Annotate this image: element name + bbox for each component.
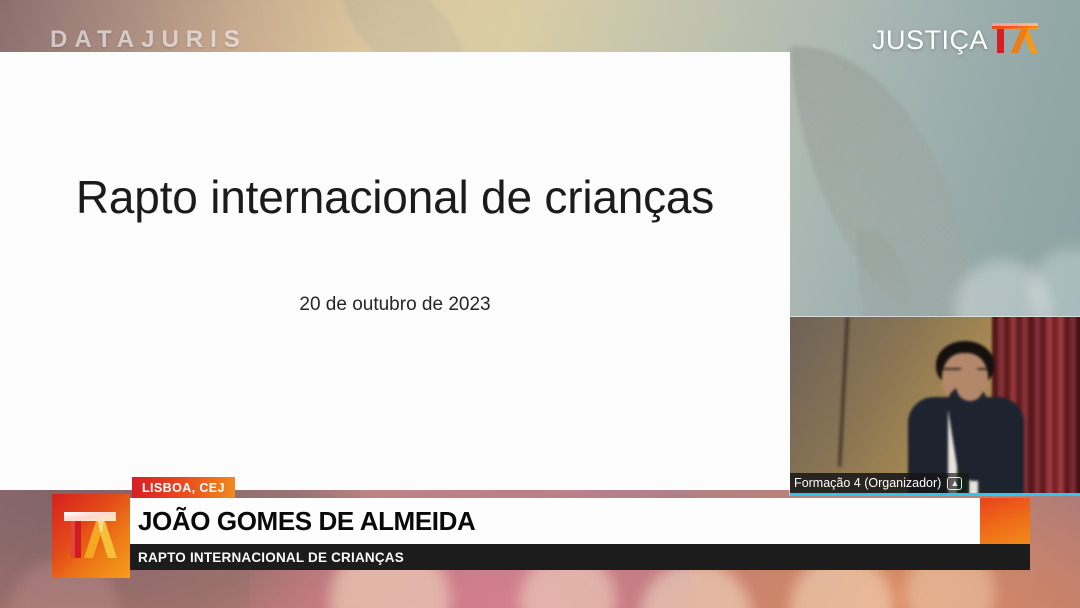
- participant-video-tile[interactable]: EJ Formação 4 (Organizador) ▲: [789, 316, 1080, 496]
- active-speaker-border: [790, 493, 1080, 496]
- participant-name-label: EJ Formação 4 (Organizador) ▲: [790, 473, 969, 493]
- topic-bar: RAPTO INTERNACIONAL DE CRIANÇAS: [130, 544, 1030, 570]
- slide-title: Rapto internacional de crianças: [60, 170, 730, 225]
- presentation-slide: Rapto internacional de crianças 20 de ou…: [0, 52, 790, 490]
- name-bar-accent-cap: [980, 498, 1030, 544]
- speaker-name-text: JOÃO GOMES DE ALMEIDA: [138, 506, 475, 537]
- pin-icon[interactable]: ▲: [947, 477, 962, 490]
- ta-logo-icon: [988, 20, 1044, 61]
- location-badge-text: LISBOA, CEJ: [142, 481, 225, 495]
- speaker-name-bar: JOÃO GOMES DE ALMEIDA: [130, 498, 1030, 544]
- ta-logo-block: [52, 494, 130, 578]
- location-badge: LISBOA, CEJ: [132, 477, 235, 498]
- topic-text: RAPTO INTERNACIONAL DE CRIANÇAS: [138, 550, 404, 565]
- brand-word: JUSTIÇA: [872, 25, 988, 56]
- video-blur-overlay: [790, 317, 1080, 496]
- broadcast-stage: DATAJURIS JUSTIÇA Rapto int: [0, 0, 1080, 608]
- slide-subtitle-date: 20 de outubro de 2023: [60, 294, 730, 316]
- datajuris-watermark: DATAJURIS: [50, 26, 247, 54]
- participant-name-text: EJ Formação 4 (Organizador): [789, 476, 941, 490]
- ta-logo-icon: [61, 508, 123, 571]
- justica-tv-brand: JUSTIÇA: [872, 20, 1044, 61]
